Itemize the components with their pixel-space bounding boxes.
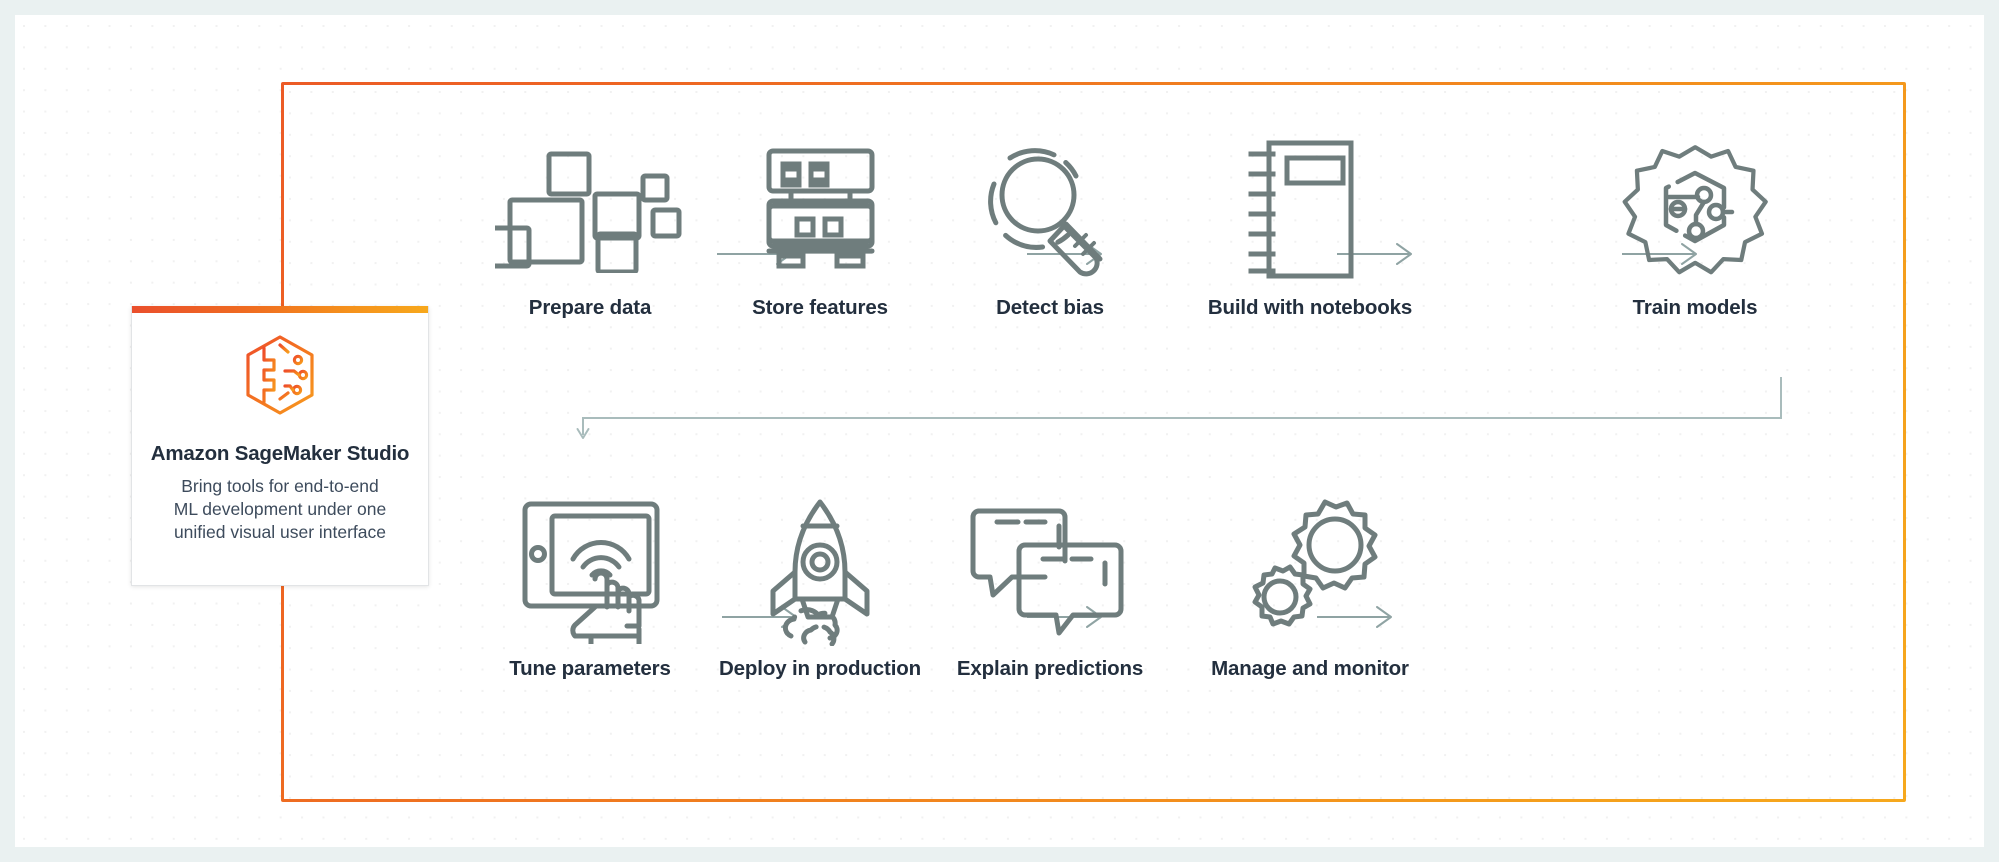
step-label: Detect bias xyxy=(935,296,1165,320)
server-rack-detail-icon xyxy=(705,140,935,280)
step-label: Explain predictions xyxy=(935,657,1165,681)
step-tune-parameters[interactable]: Tune parameters xyxy=(475,501,705,681)
spiral-notebook-icon xyxy=(1195,140,1425,280)
step-label: Train models xyxy=(1580,296,1810,320)
wrap-connector-arrow xyxy=(575,375,1795,445)
diagram-canvas: Prepare data Store features xyxy=(15,15,1984,847)
tablet-touch-icon xyxy=(475,501,705,641)
card-description-line: Bring tools for end-to-end xyxy=(174,475,386,498)
speech-bubbles-icon xyxy=(935,501,1165,641)
sagemaker-brain-logo xyxy=(238,333,322,422)
step-label: Build with notebooks xyxy=(1195,296,1425,320)
scattered-squares-icon xyxy=(475,140,705,280)
step-label: Store features xyxy=(705,296,935,320)
card-description-line: ML development under one xyxy=(174,498,386,521)
card-title: Amazon SageMaker Studio xyxy=(151,442,410,466)
step-label: Tune parameters xyxy=(475,657,705,681)
two-gears-icon xyxy=(1195,501,1425,641)
step-label: Prepare data xyxy=(475,296,705,320)
rocket-icon xyxy=(705,501,935,641)
step-explain-predictions[interactable]: Explain predictions xyxy=(935,501,1165,681)
step-deploy-in-production[interactable]: Deploy in production xyxy=(705,501,935,681)
step-build-with-notebooks[interactable]: Build with notebooks xyxy=(1195,140,1425,320)
card-description-line: unified visual user interface xyxy=(174,521,386,544)
step-detect-bias[interactable]: Detect bias xyxy=(935,140,1165,320)
magnifying-glass-icon xyxy=(935,140,1165,280)
card-description: Bring tools for end-to-end ML developmen… xyxy=(160,475,400,543)
step-label: Manage and monitor xyxy=(1195,657,1425,681)
sagemaker-studio-card[interactable]: Amazon SageMaker Studio Bring tools for … xyxy=(131,306,429,586)
gear-circuit-icon xyxy=(1580,140,1810,280)
step-manage-and-monitor[interactable]: Manage and monitor xyxy=(1195,501,1425,681)
step-train-models[interactable]: Train models xyxy=(1580,140,1810,320)
step-label: Deploy in production xyxy=(705,657,935,681)
step-prepare-data[interactable]: Prepare data xyxy=(475,140,705,320)
card-accent-bar xyxy=(132,306,428,313)
